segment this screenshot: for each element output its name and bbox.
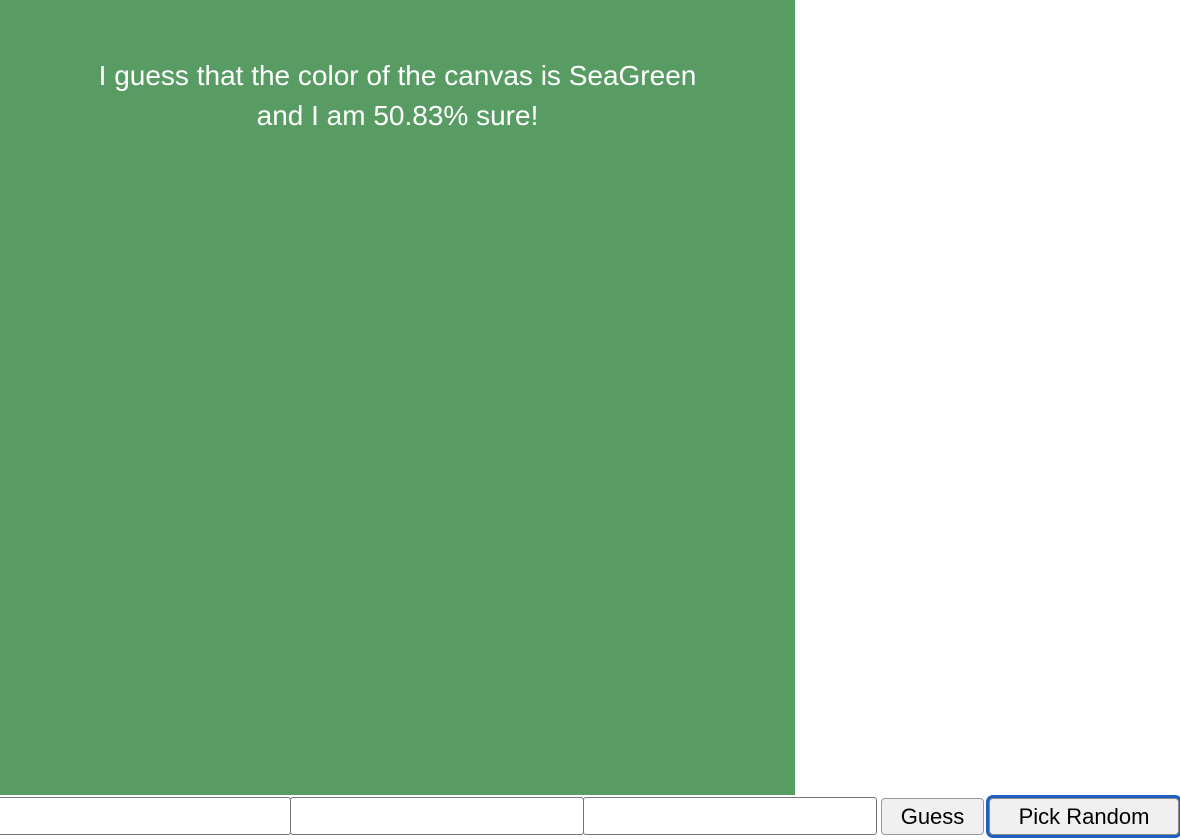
green-input[interactable]: [290, 797, 584, 835]
control-bar: Guess Pick Random: [0, 797, 1180, 840]
guess-message: I guess that the color of the canvas is …: [0, 56, 795, 136]
guess-button[interactable]: Guess: [881, 798, 984, 835]
color-canvas[interactable]: I guess that the color of the canvas is …: [0, 0, 795, 795]
app-root: I guess that the color of the canvas is …: [0, 0, 1180, 840]
blue-input[interactable]: [583, 797, 877, 835]
red-input[interactable]: [0, 797, 291, 835]
pick-random-button[interactable]: Pick Random: [989, 798, 1179, 835]
